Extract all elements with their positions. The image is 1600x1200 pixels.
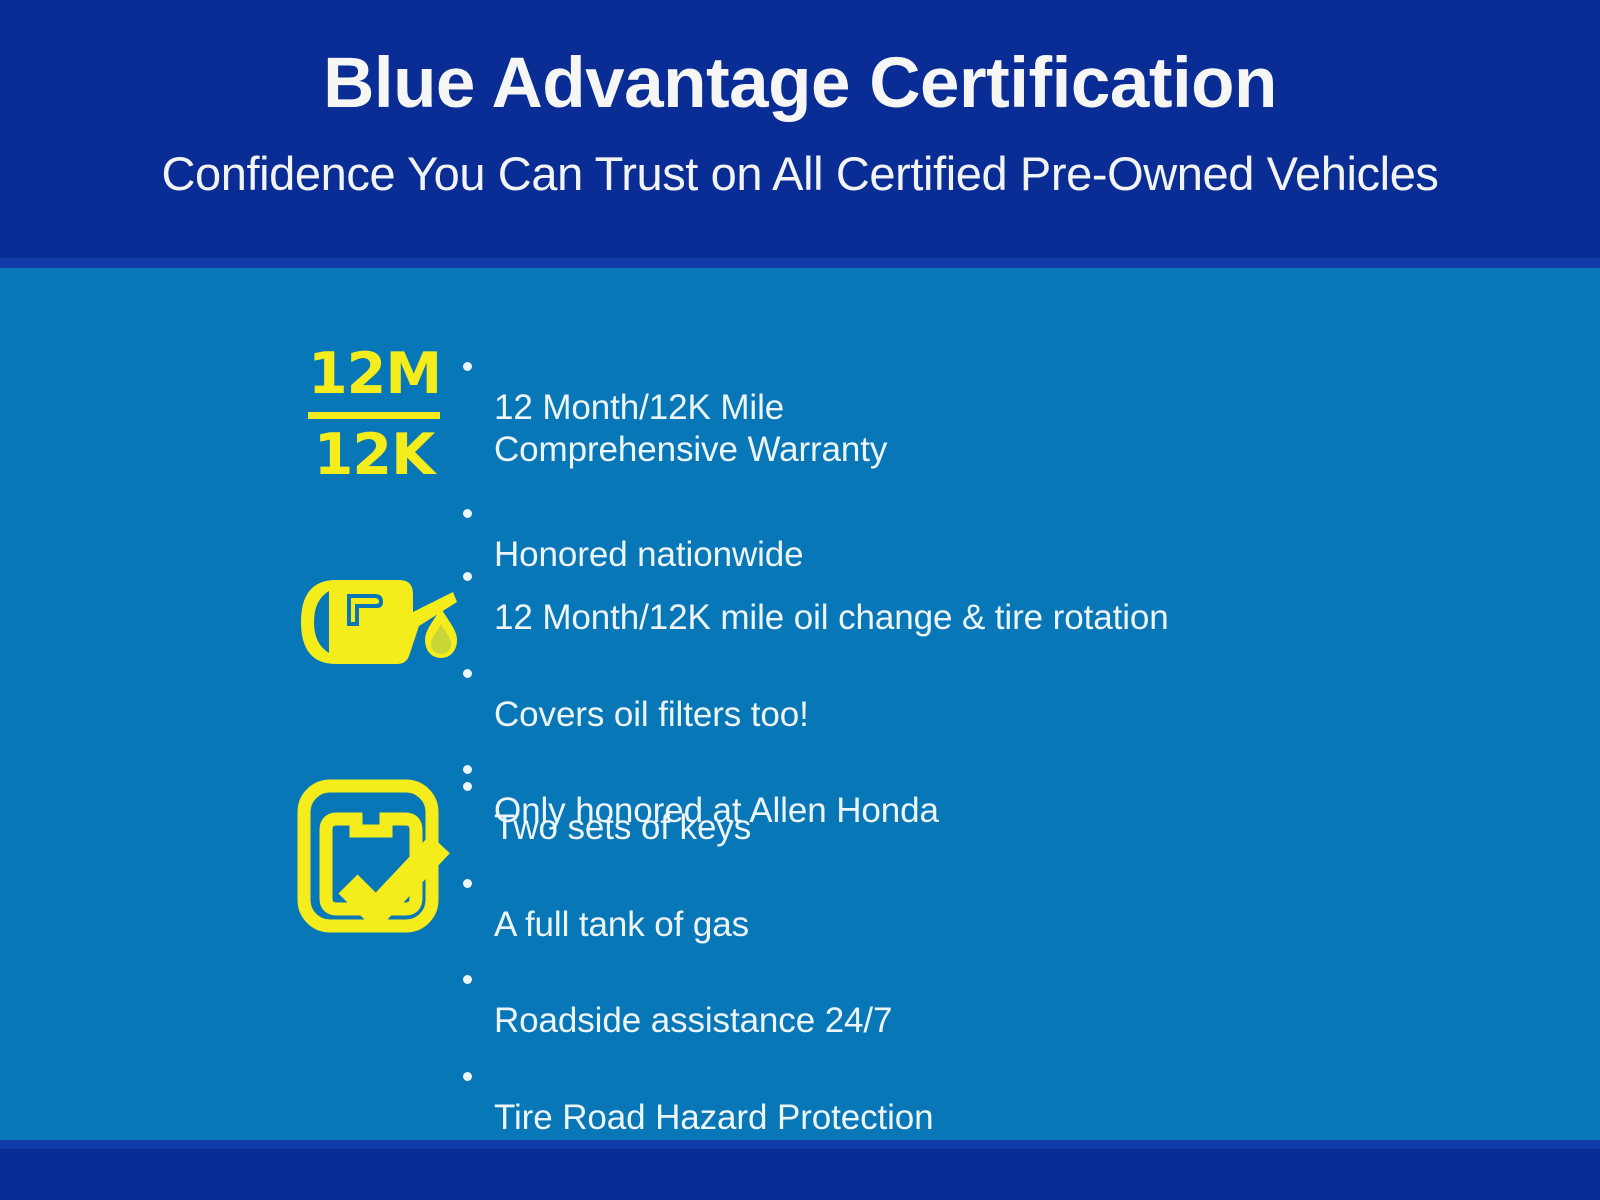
list-item-label: Covers oil filters too!	[494, 695, 809, 734]
list-item: Covers oil filters too!	[460, 653, 1508, 736]
feature-list-extras: Two sets of keys A full tank of gas Road…	[460, 766, 1488, 1200]
blue-advantage-certification-poster: Blue Advantage Certification Confidence …	[0, 0, 1600, 1200]
list-item-label: 12 Month/12K Mile Comprehensive Warranty	[494, 388, 887, 468]
list-item-label: A full tank of gas	[494, 905, 749, 944]
bullet-dot-icon	[463, 1072, 472, 1081]
list-item: A full tank of gas	[460, 863, 1488, 946]
feature-icon-slot: 12M 12K	[288, 346, 460, 484]
list-item: Two sets of keys	[460, 766, 1488, 849]
fraction-bar	[308, 412, 440, 419]
bullet-dot-icon	[463, 879, 472, 888]
bullet-dot-icon	[463, 975, 472, 984]
feature-icon-slot	[288, 766, 460, 936]
fraction-denominator-label: 12K	[308, 427, 440, 484]
twelve-month-twelve-k-fraction-icon: 12M 12K	[308, 346, 440, 484]
list-item-label: 12 Month/12K mile oil change & tire rota…	[494, 598, 1169, 637]
list-item-label: Tire Road Hazard Protection	[494, 1098, 934, 1137]
bullet-dot-icon	[463, 362, 472, 371]
header-divider-rule	[0, 258, 1600, 268]
list-item: 12 Month/12K Mile Comprehensive Warranty	[460, 346, 1488, 470]
list-item: Roadside assistance 24/7	[460, 959, 1488, 1042]
clipboard-check-icon	[290, 774, 458, 936]
feature-row-extras: Two sets of keys A full tank of gas Road…	[288, 766, 1488, 1200]
list-item-label: Two sets of keys	[494, 808, 751, 847]
oil-can-icon	[289, 564, 459, 668]
footer-divider-rule	[0, 1140, 1600, 1149]
list-item: Tire Road Hazard Protection	[460, 1056, 1488, 1139]
bullet-dot-icon	[463, 509, 472, 518]
footer-band	[0, 1140, 1600, 1200]
list-item-label: Roadside assistance 24/7	[494, 1001, 892, 1040]
header-band: Blue Advantage Certification Confidence …	[0, 0, 1600, 268]
page-subtitle: Confidence You Can Trust on All Certifie…	[0, 148, 1600, 200]
feature-icon-slot	[288, 556, 460, 668]
bullet-dot-icon	[463, 669, 472, 678]
bullet-dot-icon	[463, 572, 472, 581]
bullet-dot-icon	[463, 782, 472, 791]
fraction-numerator-label: 12M	[308, 346, 440, 403]
list-item: 12 Month/12K mile oil change & tire rota…	[460, 556, 1508, 639]
page-title: Blue Advantage Certification	[0, 48, 1600, 120]
